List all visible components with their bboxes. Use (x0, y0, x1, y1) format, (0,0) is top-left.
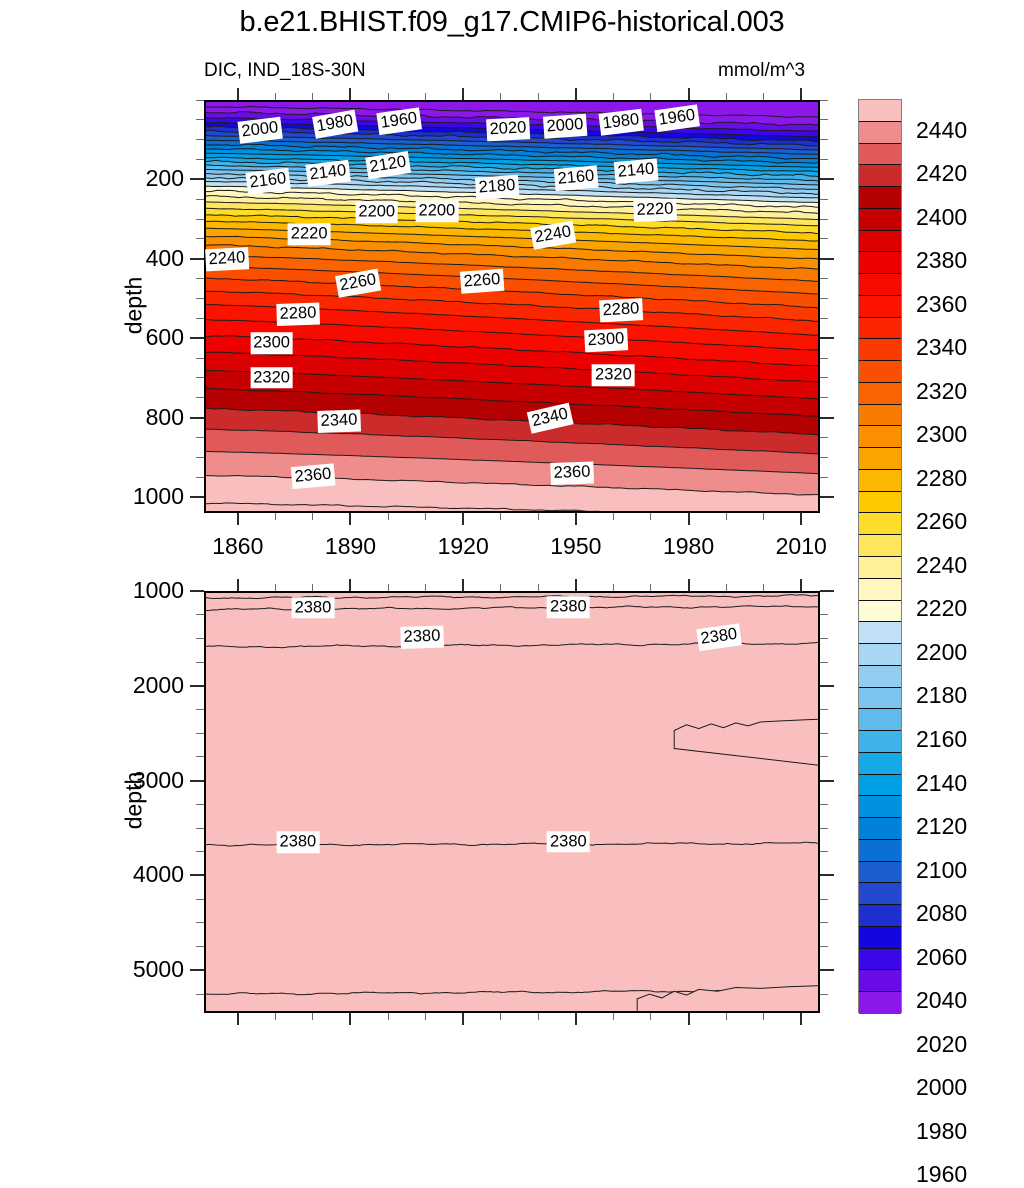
x-tick (237, 579, 239, 591)
colorbar-swatch[interactable] (859, 274, 901, 296)
y-tick (196, 994, 204, 995)
x-tick (500, 93, 501, 100)
colorbar-swatch[interactable] (859, 905, 901, 927)
y-tick (820, 278, 828, 279)
x-tick (800, 579, 802, 591)
y-tick (820, 417, 834, 419)
y-tick (820, 638, 828, 639)
x-tick (726, 93, 727, 100)
y-tick (820, 258, 834, 260)
x-tick (500, 513, 501, 520)
colorbar-swatch[interactable] (859, 405, 901, 427)
y-tick (820, 358, 828, 359)
colorbar-tick-label: 2320 (916, 378, 967, 405)
y-tick (196, 159, 204, 160)
x-tick (388, 1013, 389, 1020)
y-tick (196, 100, 204, 101)
y-tick (196, 298, 204, 299)
colorbar-swatch[interactable] (859, 753, 901, 775)
y-tick (820, 100, 828, 101)
x-tick (237, 88, 239, 100)
units-label: mmol/m^3 (718, 60, 805, 82)
contour-label: 2220 (288, 223, 331, 245)
y-tick (196, 477, 204, 478)
contour-label: 2260 (460, 268, 504, 292)
y-tick (820, 496, 834, 498)
colorbar-swatch[interactable] (859, 361, 901, 383)
colorbar-tick-label: 2200 (916, 639, 967, 666)
x-tick (312, 93, 313, 100)
colorbar-swatch[interactable] (859, 862, 901, 884)
colorbar-swatch[interactable] (859, 100, 901, 122)
y-tick (196, 946, 204, 947)
colorbar-swatch[interactable] (859, 492, 901, 514)
y-tick (820, 780, 834, 782)
x-tick (726, 584, 727, 591)
y-tick (196, 199, 204, 200)
page-title: b.e21.BHIST.f09_g17.CMIP6-historical.003 (0, 6, 1024, 39)
contour-label: 2240 (205, 247, 249, 271)
y-tick (820, 946, 828, 947)
colorbar-tick-label: 2160 (916, 726, 967, 753)
y-tick (820, 377, 828, 378)
x-tick (462, 513, 464, 525)
y-tick (820, 178, 834, 180)
colorbar-tick-label: 2020 (916, 1031, 967, 1058)
colorbar-tick-label: 2300 (916, 421, 967, 448)
contour-label: 2380 (292, 597, 335, 619)
y-tick-label: 600 (146, 324, 184, 351)
colorbar-swatch[interactable] (859, 883, 901, 905)
contour-label: 2320 (250, 367, 293, 389)
colorbar-tick-label: 2080 (916, 900, 967, 927)
contour-label: 2200 (416, 200, 459, 222)
x-tick (275, 93, 276, 100)
y-tick (820, 874, 834, 876)
y-tick-label: 1000 (133, 483, 184, 510)
y-tick (820, 590, 834, 592)
colorbar-swatch[interactable] (859, 775, 901, 797)
x-tick (688, 513, 690, 525)
colorbar-swatch[interactable] (859, 840, 901, 862)
y-tick (820, 899, 828, 900)
x-tick-label: 1860 (212, 533, 263, 560)
contour-label: 2360 (550, 462, 593, 485)
colorbar-swatch[interactable] (859, 252, 901, 274)
x-tick (575, 88, 577, 100)
y-tick-label: 3000 (133, 767, 184, 794)
y-tick-label: 200 (146, 165, 184, 192)
x-tick (613, 513, 614, 520)
deep-panel-contour-fill (206, 593, 820, 1013)
contour-label: 2180 (475, 175, 519, 199)
colorbar-tick-label: 2100 (916, 857, 967, 884)
y-tick (820, 298, 828, 299)
y-tick (196, 358, 204, 359)
y-tick (196, 437, 204, 438)
x-tick (388, 93, 389, 100)
x-tick (763, 584, 764, 591)
y-tick (190, 258, 204, 260)
x-tick (726, 1013, 727, 1020)
colorbar-swatch[interactable] (859, 731, 901, 753)
colorbar-swatch[interactable] (859, 688, 901, 710)
colorbar-tick-label: 2120 (916, 813, 967, 840)
colorbar-tick-label: 2240 (916, 552, 967, 579)
deep-ocean-contour-panel[interactable] (204, 591, 820, 1013)
colorbar-swatch[interactable] (859, 622, 901, 644)
y-tick (190, 685, 204, 687)
y-tick (196, 899, 204, 900)
y-tick (196, 733, 204, 734)
y-tick (190, 178, 204, 180)
colorbar-tick-label: 2180 (916, 682, 967, 709)
x-tick (462, 1013, 464, 1025)
y-tick (820, 804, 828, 805)
colorbar-swatch[interactable] (859, 470, 901, 492)
y-tick (196, 709, 204, 710)
colorbar-tick-label: 2040 (916, 987, 967, 1014)
contour-label: 2320 (592, 364, 635, 386)
contour-label: 2340 (317, 409, 360, 432)
colorbar-swatch[interactable] (859, 818, 901, 840)
colorbar-swatch[interactable] (859, 187, 901, 209)
y-tick (820, 994, 828, 995)
contour-label: 2300 (584, 328, 628, 352)
colorbar-swatch[interactable] (859, 296, 901, 318)
colorbar-tick-label: 1980 (916, 1118, 967, 1145)
y-tick-label: 2000 (133, 672, 184, 699)
y-tick-label: 400 (146, 245, 184, 272)
contour-label: 2220 (633, 199, 676, 222)
colorbar-tick-label: 2220 (916, 595, 967, 622)
variable-label: DIC, IND_18S-30N (204, 60, 366, 82)
colorbar-swatch[interactable] (859, 426, 901, 448)
y-tick (190, 780, 204, 782)
colorbar-swatch[interactable] (859, 122, 901, 144)
y-tick (820, 614, 828, 615)
y-tick (820, 199, 828, 200)
x-tick (538, 93, 539, 100)
colorbar-swatch[interactable] (859, 513, 901, 535)
x-tick (425, 93, 426, 100)
y-tick (190, 417, 204, 419)
y-tick (196, 828, 204, 829)
y-tick-label: 1000 (133, 577, 184, 604)
colorbar-tick-label: 2260 (916, 508, 967, 535)
y-tick (196, 804, 204, 805)
x-tick (237, 1013, 239, 1025)
y-tick-label: 800 (146, 404, 184, 431)
colorbar-swatch[interactable] (859, 144, 901, 166)
x-tick (349, 1013, 351, 1025)
contour-label: 2380 (547, 596, 590, 618)
x-tick (650, 93, 651, 100)
x-tick (275, 513, 276, 520)
x-tick (275, 1013, 276, 1020)
colorbar-swatch[interactable] (859, 644, 901, 666)
contour-label: 2380 (400, 626, 443, 649)
x-tick (650, 513, 651, 520)
y-tick (196, 922, 204, 923)
contour-label: 2280 (276, 303, 319, 326)
x-tick (538, 584, 539, 591)
colorbar-swatch[interactable] (859, 927, 901, 949)
y-tick (820, 139, 828, 140)
colorbar-swatch[interactable] (859, 579, 901, 601)
y-tick (196, 377, 204, 378)
y-tick-label: 4000 (133, 861, 184, 888)
figure-root: b.e21.BHIST.f09_g17.CMIP6-historical.003… (0, 0, 1024, 1024)
y-tick (820, 828, 828, 829)
x-tick (688, 1013, 690, 1025)
x-tick (388, 513, 389, 520)
y-tick (190, 874, 204, 876)
colorbar-tick-label: 2380 (916, 247, 967, 274)
x-tick (425, 1013, 426, 1020)
x-tick (688, 579, 690, 591)
contour-label: 2380 (277, 832, 320, 854)
colorbar-tick-label: 1960 (916, 1161, 967, 1188)
colorbar-swatch[interactable] (859, 209, 901, 231)
x-tick (575, 1013, 577, 1025)
x-tick (388, 584, 389, 591)
y-tick (820, 733, 828, 734)
x-tick (613, 93, 614, 100)
contour-label: 2360 (291, 464, 335, 489)
x-tick (349, 579, 351, 591)
colorbar-tick-label: 2000 (916, 1074, 967, 1101)
x-tick (312, 1013, 313, 1020)
x-tick (349, 513, 351, 525)
x-tick (237, 513, 239, 525)
x-tick-label: 1890 (325, 533, 376, 560)
colorbar-swatch[interactable] (859, 231, 901, 253)
y-tick (196, 851, 204, 852)
colorbar-swatch[interactable] (859, 992, 901, 1014)
x-tick (650, 1013, 651, 1020)
colorbar-swatch[interactable] (859, 165, 901, 187)
y-tick (190, 969, 204, 971)
colorbar[interactable] (858, 99, 902, 1013)
colorbar-tick-label: 2440 (916, 117, 967, 144)
x-tick (763, 513, 764, 520)
x-tick (425, 584, 426, 591)
y-tick (820, 159, 828, 160)
y-axis-title-bottom: depth (121, 721, 148, 881)
y-tick (820, 922, 828, 923)
y-tick (196, 278, 204, 279)
contour-label: 2160 (554, 165, 598, 190)
colorbar-swatch[interactable] (859, 666, 901, 688)
contour-label: 2000 (543, 114, 587, 138)
x-tick (575, 579, 577, 591)
y-tick (190, 337, 204, 339)
y-tick (196, 219, 204, 220)
y-tick (820, 318, 828, 319)
y-tick (196, 662, 204, 663)
x-tick-label: 2010 (776, 533, 827, 560)
y-tick (820, 477, 828, 478)
colorbar-tick-label: 2060 (916, 944, 967, 971)
colorbar-swatch[interactable] (859, 383, 901, 405)
y-tick (820, 685, 834, 687)
colorbar-swatch[interactable] (859, 535, 901, 557)
y-tick (820, 969, 834, 971)
x-tick (726, 513, 727, 520)
colorbar-tick-label: 2140 (916, 770, 967, 797)
x-tick-label: 1980 (663, 533, 714, 560)
colorbar-swatch[interactable] (859, 949, 901, 971)
contour-label: 2380 (547, 831, 590, 853)
y-tick (196, 318, 204, 319)
y-tick (820, 756, 828, 757)
y-tick (196, 397, 204, 398)
x-tick (312, 513, 313, 520)
y-tick (820, 709, 828, 710)
colorbar-tick-label: 2420 (916, 160, 967, 187)
y-tick (196, 756, 204, 757)
y-tick (196, 139, 204, 140)
x-tick (462, 88, 464, 100)
colorbar-swatch[interactable] (859, 970, 901, 992)
y-axis-title-top: depth (121, 225, 148, 385)
contour-label: 2140 (614, 159, 658, 184)
x-tick (613, 1013, 614, 1020)
y-tick (820, 397, 828, 398)
y-tick (820, 238, 828, 239)
x-tick (538, 1013, 539, 1020)
x-tick-label: 1920 (438, 533, 489, 560)
colorbar-tick-label: 2340 (916, 334, 967, 361)
colorbar-swatch[interactable] (859, 318, 901, 340)
y-tick (820, 457, 828, 458)
colorbar-tick-label: 2280 (916, 465, 967, 492)
x-tick (688, 88, 690, 100)
y-tick (820, 337, 834, 339)
colorbar-swatch[interactable] (859, 709, 901, 731)
x-tick (650, 584, 651, 591)
contour-label: 2300 (250, 332, 293, 354)
y-tick (196, 238, 204, 239)
y-tick (196, 638, 204, 639)
contour-label: 2200 (355, 202, 398, 224)
y-tick (196, 614, 204, 615)
x-tick-label: 1950 (550, 533, 601, 560)
y-tick (820, 662, 828, 663)
x-tick (538, 513, 539, 520)
colorbar-swatch[interactable] (859, 339, 901, 361)
y-tick (190, 590, 204, 592)
x-tick (800, 1013, 802, 1025)
contour-label: 2020 (486, 117, 530, 141)
x-tick (800, 513, 802, 525)
colorbar-tick-label: 2400 (916, 204, 967, 231)
x-tick (500, 1013, 501, 1020)
y-tick (196, 119, 204, 120)
x-tick (800, 88, 802, 100)
colorbar-swatch[interactable] (859, 601, 901, 623)
x-tick (275, 584, 276, 591)
x-tick (763, 93, 764, 100)
y-tick (196, 457, 204, 458)
x-tick (500, 584, 501, 591)
y-tick (820, 851, 828, 852)
colorbar-tick-label: 2360 (916, 291, 967, 318)
y-tick (820, 437, 828, 438)
colorbar-swatch[interactable] (859, 557, 901, 579)
y-tick (820, 119, 828, 120)
colorbar-swatch[interactable] (859, 796, 901, 818)
x-tick (575, 513, 577, 525)
contour-label: 2280 (599, 298, 643, 322)
y-tick (820, 219, 828, 220)
y-tick-label: 5000 (133, 956, 184, 983)
x-tick (425, 513, 426, 520)
colorbar-swatch[interactable] (859, 448, 901, 470)
x-tick (763, 1013, 764, 1020)
y-tick (190, 496, 204, 498)
x-tick (462, 579, 464, 591)
x-tick (613, 584, 614, 591)
x-tick (312, 584, 313, 591)
x-tick (349, 88, 351, 100)
